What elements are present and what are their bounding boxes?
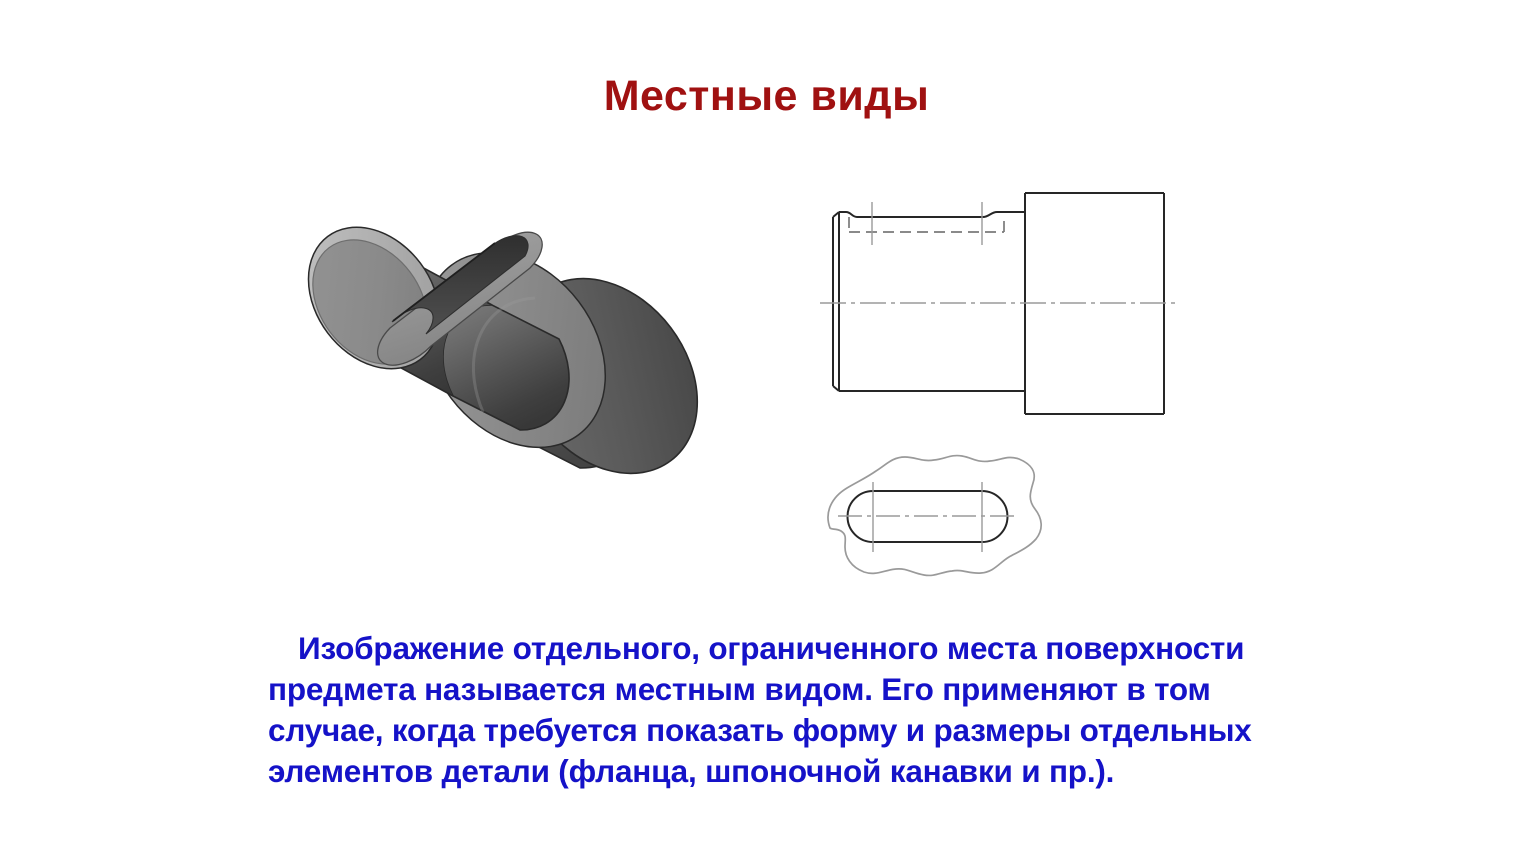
technical-drawing-svg [800,160,1260,610]
page-title: Местные виды [0,72,1533,121]
keyway-center-marks [872,202,982,245]
technical-drawing [800,160,1260,610]
local-view [828,456,1041,576]
body-paragraph: Изображение отдельного, ограниченного ме… [268,628,1288,792]
shaft-3d-svg [280,150,740,530]
slide-canvas: Местные виды [0,0,1533,864]
shaft-3d-model [280,150,740,530]
